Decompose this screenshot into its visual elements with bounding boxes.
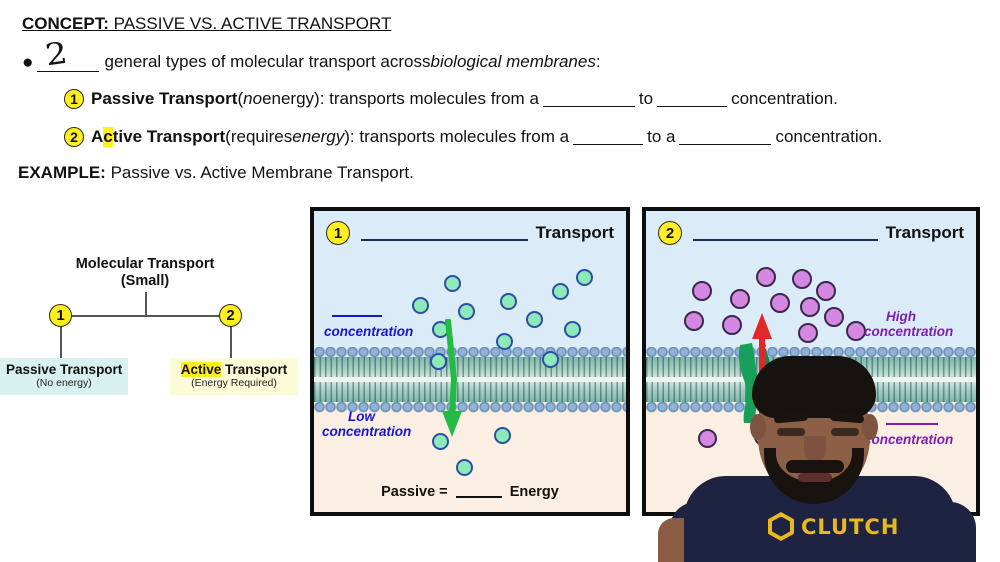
instructor-video-overlay: CLUTCH	[640, 352, 1000, 562]
passive-energy-caption: Passive = Energy	[314, 484, 626, 500]
passive-paren-italic: no	[243, 89, 262, 109]
active-end-text: concentration.	[775, 127, 882, 147]
tree-title-line1: Molecular Transport	[0, 256, 290, 273]
active-transport-title-a: A	[91, 127, 103, 147]
tree-box-active-title-highlight: Active	[181, 362, 222, 377]
passive-mid-text: to	[639, 89, 653, 109]
tree-connector-stem	[145, 292, 147, 316]
instructor-mouth	[798, 473, 832, 482]
bullet-dot-icon: ●	[22, 53, 33, 72]
passive-particle-top	[576, 269, 593, 286]
tree-box-passive-transport: Passive Transport (No energy)	[0, 358, 128, 395]
tree-title: Molecular Transport (Small)	[0, 256, 290, 290]
active-particle-top	[722, 315, 742, 335]
passive-particle-top	[542, 351, 559, 368]
instructor-eye-right	[831, 428, 859, 436]
clutch-logo-text: CLUTCH	[801, 515, 899, 539]
passive-blank-to	[657, 91, 727, 107]
active-particle-top	[792, 269, 812, 289]
tree-node-2: 2	[219, 304, 242, 327]
hexagon-icon	[768, 512, 794, 541]
passive-panel-blank	[361, 225, 528, 241]
active-particle-top	[798, 323, 818, 343]
list-item-active-transport: 2 Active Transport (requires energy ): t…	[64, 127, 882, 147]
instructor-nose	[804, 436, 826, 462]
active-blank-from	[573, 129, 643, 145]
active-transport-title-highlight: c	[103, 127, 112, 147]
molecular-transport-tree: Molecular Transport (Small) 1 2 Passive …	[0, 250, 300, 395]
passive-particle-top	[564, 321, 581, 338]
instructor-ear-right	[862, 414, 878, 440]
passive-panel-heading-word: Transport	[536, 223, 614, 243]
active-paren-italic: energy	[292, 127, 344, 147]
instructor-mustache	[786, 460, 844, 473]
passive-caption-pre: Passive =	[381, 484, 452, 500]
tree-box-active-title: Active Transport	[176, 362, 292, 377]
active-panel-heading: 2 Transport	[646, 221, 976, 245]
instructor-ear-left	[750, 414, 766, 440]
tree-box-active-transport: Active Transport (Energy Required)	[170, 358, 298, 395]
example-heading: EXAMPLE: Passive vs. Active Membrane Tra…	[18, 163, 414, 183]
example-label: EXAMPLE:	[18, 163, 106, 182]
active-panel-blank	[693, 225, 878, 241]
active-particle-top	[800, 297, 820, 317]
passive-top-concentration-blank	[332, 315, 382, 317]
active-particle-top	[816, 281, 836, 301]
active-panel-heading-word: Transport	[886, 223, 964, 243]
active-particle-top	[730, 289, 750, 309]
passive-particle-top	[458, 303, 475, 320]
passive-particle-bottom	[456, 459, 473, 476]
tree-connector-horizontal	[60, 315, 232, 317]
tree-box-passive-title: Passive Transport	[6, 362, 122, 377]
active-particle-top	[756, 267, 776, 287]
tree-box-active-sub: (Energy Required)	[176, 377, 292, 390]
passive-end-text: concentration.	[731, 89, 838, 109]
passive-diffusion-arrow-icon	[432, 319, 472, 449]
passive-panel-number-badge: 1	[326, 221, 350, 245]
passive-particle-top	[496, 333, 513, 350]
concept-label: CONCEPT:	[22, 14, 109, 33]
tree-title-line2: (Small)	[0, 273, 290, 290]
passive-caption-post: Energy	[506, 484, 559, 500]
active-blank-to	[679, 129, 771, 145]
active-paren-rest: ): transports molecules from a	[344, 127, 569, 147]
handwritten-blank: 2	[37, 52, 99, 72]
passive-particle-bottom	[494, 427, 511, 444]
active-particle-top	[684, 311, 704, 331]
passive-paren-rest: energy): transports molecules from a	[262, 89, 539, 109]
passive-caption-blank	[456, 484, 502, 498]
passive-particle-top	[412, 297, 429, 314]
passive-transport-title: Passive Transport	[91, 89, 237, 109]
example-text: Passive vs. Active Membrane Transport.	[106, 163, 414, 182]
clutch-logo: CLUTCH	[768, 512, 899, 541]
passive-bottom-concentration-line1: Low	[348, 409, 375, 424]
active-particle-top	[692, 281, 712, 301]
number-badge-2: 2	[64, 127, 84, 147]
active-panel-number-badge: 2	[658, 221, 682, 245]
bullet-text: general types of molecular transport acr…	[104, 52, 430, 72]
active-transport-title-rest: tive Transport	[113, 127, 225, 147]
concept-heading: CONCEPT: PASSIVE VS. ACTIVE TRANSPORT	[22, 14, 391, 34]
passive-transport-diagram-panel: 1 Transport concentration Low concentrat…	[310, 207, 630, 516]
passive-panel-heading: 1 Transport	[314, 221, 626, 245]
handwritten-answer: 2	[44, 39, 70, 72]
passive-bottom-concentration-line2: concentration	[322, 424, 411, 439]
bullet-line-types: ● 2 general types of molecular transport…	[22, 52, 601, 72]
tree-node-1: 1	[49, 304, 72, 327]
passive-particle-top	[526, 311, 543, 328]
passive-particle-top	[444, 275, 461, 292]
instructor-hair	[752, 356, 876, 418]
passive-top-concentration-label: concentration	[324, 324, 413, 339]
tree-box-active-title-rest: Transport	[221, 362, 287, 377]
bullet-colon: :	[596, 52, 601, 72]
list-item-passive-transport: 1 Passive Transport ( no energy): transp…	[64, 89, 838, 109]
passive-particle-top	[500, 293, 517, 310]
instructor-eye-left	[777, 428, 805, 436]
passive-blank-from	[543, 91, 635, 107]
active-mid-text: to a	[647, 127, 675, 147]
active-particle-top	[846, 321, 866, 341]
bullet-italic-term: biological membranes	[430, 52, 595, 72]
active-top-concentration-line1: High	[886, 309, 916, 324]
tree-box-passive-sub: (No energy)	[6, 377, 122, 390]
active-particle-top	[770, 293, 790, 313]
slide-root: CONCEPT: PASSIVE VS. ACTIVE TRANSPORT ● …	[0, 0, 1000, 562]
concept-title: PASSIVE VS. ACTIVE TRANSPORT	[109, 14, 391, 33]
active-top-concentration-line2: concentration	[864, 324, 953, 339]
number-badge-1: 1	[64, 89, 84, 109]
passive-particle-top	[552, 283, 569, 300]
active-particle-top	[824, 307, 844, 327]
active-paren-open: (requires	[225, 127, 292, 147]
